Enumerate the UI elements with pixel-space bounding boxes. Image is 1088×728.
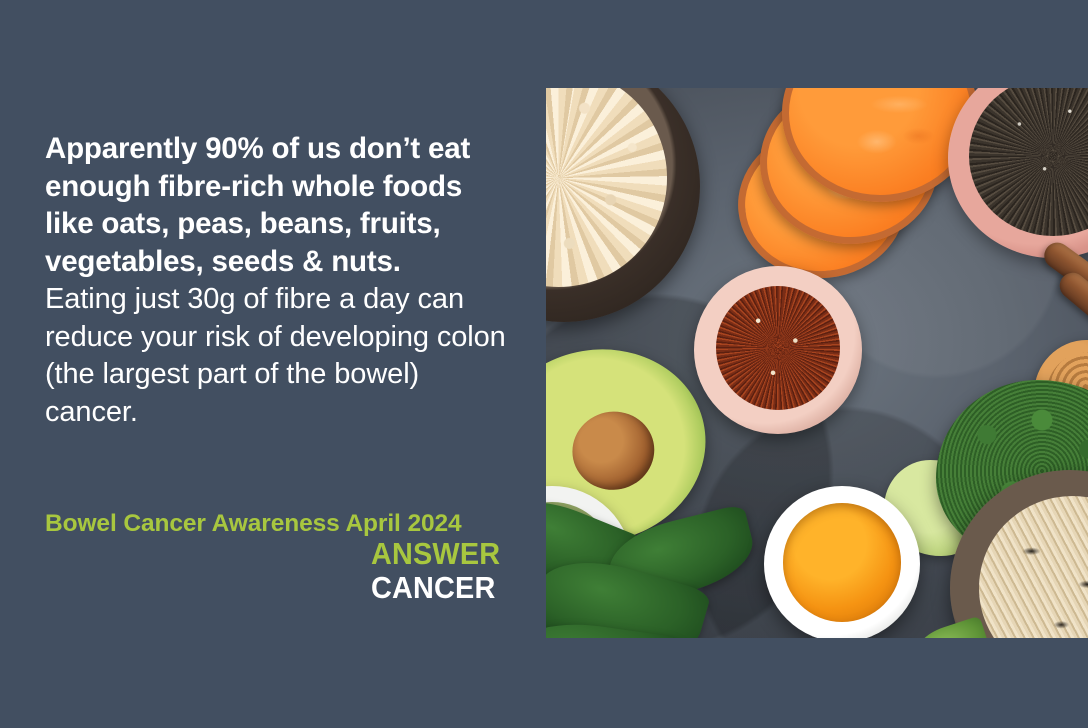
turmeric-powder-bowl-icon [764,486,920,638]
sweet-potato-slices-icon [716,88,966,300]
answer-cancer-logo[interactable]: ANSWER CANCER [371,538,510,603]
chia-seeds-fill [969,88,1088,236]
red-quinoa-fill [716,286,840,410]
food-photograph [546,88,1088,638]
turmeric-powder-fill [783,503,902,622]
subcopy-text: Eating just 30g of fibre a day can reduc… [45,281,515,432]
headline-text: Apparently 90% of us don’t eat enough fi… [45,130,515,281]
rolled-oats-fill [546,88,667,287]
red-quinoa-bowl-icon [694,266,862,434]
poster-canvas: Apparently 90% of us don’t eat enough fi… [0,0,1088,728]
logo-word-cancer: CANCER [371,572,500,603]
brown-wild-rice-fill [979,496,1088,638]
spinach-leaves-icon [546,484,770,638]
copy-block: Apparently 90% of us don’t eat enough fi… [45,130,515,432]
logo-word-answer: ANSWER [371,538,500,569]
cinnamon-stick [1054,267,1088,346]
